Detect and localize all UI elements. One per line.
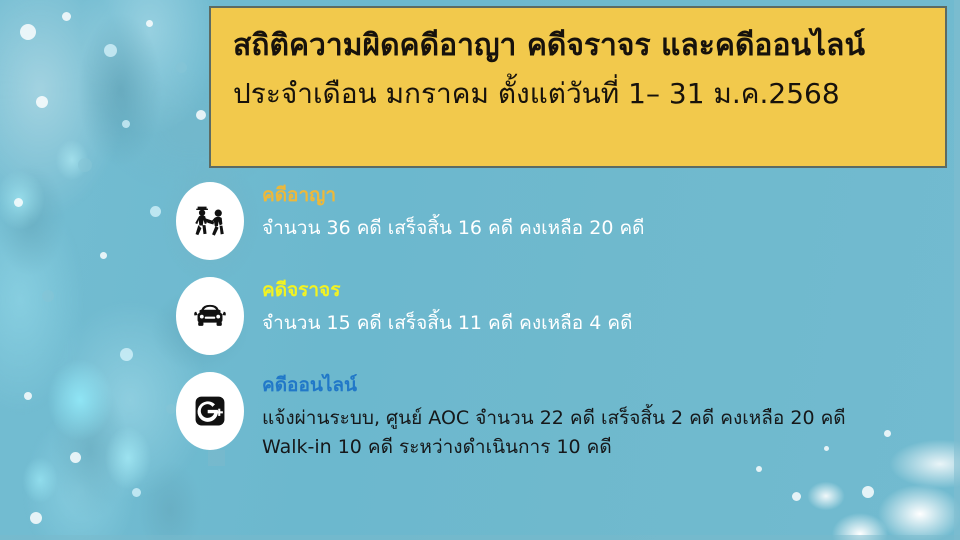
stat-row-online-text: คดีออนไลน์ แจ้งผ่านระบบ, ศูนย์ AOC จำนวน… <box>262 372 846 463</box>
page-subtitle: ประจำเดือน มกราคม ตั้งแต่วันที่ 1– 31 ม.… <box>233 75 923 113</box>
google-plus-icon-badge <box>176 372 244 450</box>
stat-detail-online-line1: แจ้งผ่านระบบ, ศูนย์ AOC จำนวน 22 คดี เสร… <box>262 404 846 433</box>
background-right-edge <box>954 0 960 540</box>
page-title: สถิติความผิดคดีอาญา คดีจราจร และคดีออนไล… <box>233 26 923 67</box>
stat-row-traffic-text: คดีจราจร จำนวน 15 คดี เสร็จสิ้น 11 คดี ค… <box>262 277 632 338</box>
stat-row-traffic: คดีจราจร จำนวน 15 คดี เสร็จสิ้น 11 คดี ค… <box>176 277 632 355</box>
google-plus-icon <box>189 390 231 432</box>
stat-heading-criminal: คดีอาญา <box>262 184 645 208</box>
stat-heading-online: คดีออนไลน์ <box>262 374 846 398</box>
police-arrest-icon <box>188 199 232 243</box>
background-cyan-highlight <box>10 330 190 520</box>
slide-canvas: สถิติความผิดคดีอาญา คดีจราจร และคดีออนไล… <box>0 0 960 540</box>
background-bottom-edge <box>0 535 960 540</box>
stat-heading-traffic: คดีจราจร <box>262 279 632 303</box>
stat-row-criminal: คดีอาญา จำนวน 36 คดี เสร็จสิ้น 16 คดี คง… <box>176 182 645 260</box>
stat-row-criminal-text: คดีอาญา จำนวน 36 คดี เสร็จสิ้น 16 คดี คง… <box>262 182 645 243</box>
car-front-icon-badge <box>176 277 244 355</box>
car-front-icon <box>189 295 231 337</box>
stat-detail-online-line2: Walk-in 10 คดี ระหว่างดำเนินการ 10 คดี <box>262 433 846 462</box>
title-banner: สถิติความผิดคดีอาญา คดีจราจร และคดีออนไล… <box>209 6 947 168</box>
stat-detail-traffic-line1: จำนวน 15 คดี เสร็จสิ้น 11 คดี คงเหลือ 4 … <box>262 309 632 338</box>
police-arrest-icon-badge <box>176 182 244 260</box>
background-cyan-highlight-upper <box>0 140 120 290</box>
stat-detail-criminal-line1: จำนวน 36 คดี เสร็จสิ้น 16 คดี คงเหลือ 20… <box>262 214 645 243</box>
stat-row-online: คดีออนไลน์ แจ้งผ่านระบบ, ศูนย์ AOC จำนวน… <box>176 372 846 463</box>
